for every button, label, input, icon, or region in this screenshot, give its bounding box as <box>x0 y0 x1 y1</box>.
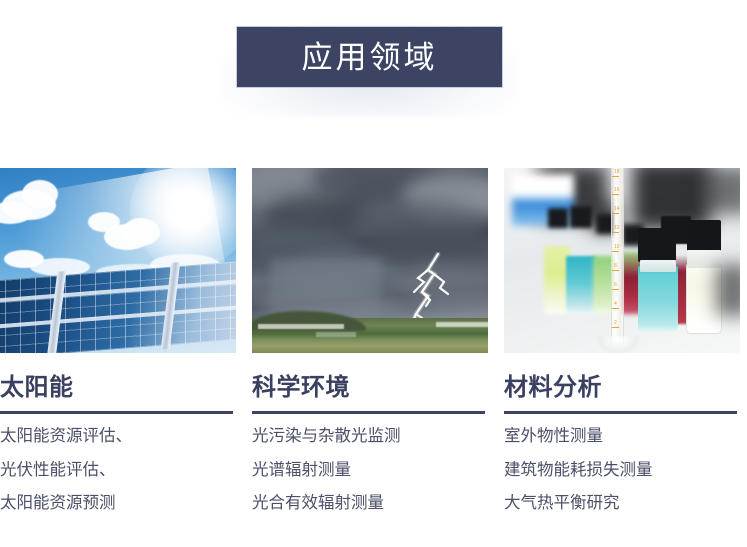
column-title-environment: 科学环境 <box>252 375 488 401</box>
column-title-material: 材料分析 <box>504 375 740 401</box>
scale-tick <box>612 327 619 328</box>
scale-label: 8 <box>614 264 617 269</box>
vial-cyan <box>566 256 596 314</box>
list-item: 光谱辐射测量 <box>252 462 488 479</box>
title-underline <box>504 411 737 414</box>
scale-label: 16 <box>614 188 620 193</box>
list-item: 光合有效辐射测量 <box>252 495 488 512</box>
scale-label: 14 <box>614 207 620 212</box>
scale-tick <box>612 194 619 195</box>
scale-tick <box>612 308 619 309</box>
list-item: 大气热平衡研究 <box>504 495 740 512</box>
solar-application-list: 太阳能资源评估、 光伏性能评估、 太阳能资源预测 <box>0 428 236 512</box>
header-banner-area: 应用领域 <box>0 0 747 140</box>
field-strip <box>258 324 344 329</box>
scale-tick <box>612 270 619 271</box>
scale-tick <box>612 176 619 177</box>
vial-neck-glass <box>640 260 676 272</box>
vial-teal-front <box>638 266 678 332</box>
title-underline <box>252 411 485 414</box>
list-item: 太阳能资源评估、 <box>0 428 236 445</box>
scale-tick <box>612 213 619 214</box>
cloud-shape <box>122 218 160 246</box>
field-strip <box>436 322 488 327</box>
background-equipment-blur <box>700 168 740 214</box>
column-material-analysis: 18 16 14 12 10 8 6 4 2 <box>504 168 740 547</box>
environment-application-list: 光污染与杂散光监测 光谱辐射测量 光合有效辐射测量 <box>252 428 488 512</box>
list-item: 室外物性测量 <box>504 428 740 445</box>
column-title-solar: 太阳能 <box>0 375 236 401</box>
section-title-banner: 应用领域 <box>236 26 503 88</box>
scale-label: 6 <box>614 283 617 288</box>
vial-cap <box>638 228 676 262</box>
scale-label: 12 <box>614 226 620 231</box>
scale-tick <box>612 289 619 290</box>
list-item: 太阳能资源预测 <box>0 495 236 512</box>
field-strip <box>316 332 356 337</box>
application-areas-columns: 太阳能 太阳能资源评估、 光伏性能评估、 太阳能资源预测 <box>0 168 747 547</box>
vial-cap <box>548 208 568 228</box>
thunderstorm-photo <box>252 168 488 353</box>
column-solar-energy: 太阳能 太阳能资源评估、 光伏性能评估、 太阳能资源预测 <box>0 168 236 547</box>
vial-cap <box>687 220 721 252</box>
list-item: 光污染与杂散光监测 <box>252 428 488 445</box>
cloud-shape <box>22 180 58 208</box>
scale-label: 10 <box>614 245 620 250</box>
scale-tick <box>612 232 619 233</box>
background-equipment-blur <box>716 264 740 316</box>
scale-label: 4 <box>614 302 617 307</box>
column-scientific-environment: 科学环境 光污染与杂散光监测 光谱辐射测量 光合有效辐射测量 <box>252 168 488 547</box>
material-application-list: 室外物性测量 建筑物能耗损失测量 大气热平衡研究 <box>504 428 740 512</box>
lightning-bolt-icon <box>378 252 454 328</box>
list-item: 建筑物能耗损失测量 <box>504 462 740 479</box>
scale-label: 18 <box>614 170 620 175</box>
title-underline <box>0 411 233 414</box>
laboratory-vials-photo: 18 16 14 12 10 8 6 4 2 <box>504 168 740 353</box>
graduated-cylinder: 18 16 14 12 10 8 6 4 2 <box>611 168 624 343</box>
page-title: 应用领域 <box>302 42 438 73</box>
scale-tick <box>612 251 619 252</box>
vial-cap <box>570 206 592 228</box>
scale-label: 2 <box>614 321 617 326</box>
solar-panels-photo <box>0 168 236 353</box>
list-item: 光伏性能评估、 <box>0 462 236 479</box>
